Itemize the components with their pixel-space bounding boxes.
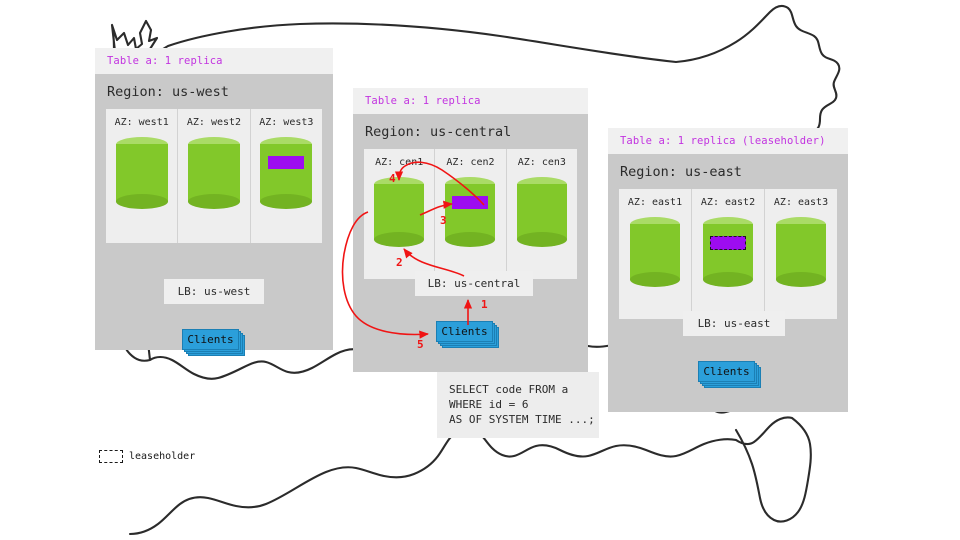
region-header-label: Table a: 1 replica	[353, 88, 588, 114]
clients-label[interactable]: Clients	[182, 329, 239, 350]
az-cell-east2[interactable]: AZ: east2	[692, 189, 765, 319]
cylinder-bottom	[445, 232, 495, 247]
diagram-canvas: Table a: 1 replica Region: us-west AZ: w…	[0, 0, 960, 540]
node-cylinder[interactable]	[260, 137, 312, 209]
cylinder-bottom	[374, 232, 424, 247]
clients-stack[interactable]: Clients	[436, 321, 498, 349]
flow-step-number-3: 3	[440, 214, 447, 227]
az-label: AZ: east1	[619, 197, 691, 208]
node-cylinder-wrap	[178, 137, 249, 209]
replica-block-leaseholder[interactable]	[710, 236, 746, 250]
node-cylinder[interactable]	[445, 177, 495, 247]
az-row: AZ: west1 AZ: west2	[106, 109, 322, 243]
node-cylinder-wrap	[692, 217, 764, 287]
region-panel-us-central: Table a: 1 replica Region: us-central AZ…	[353, 88, 588, 372]
legend: leaseholder	[99, 450, 195, 463]
replica-block[interactable]	[268, 156, 304, 169]
az-row: AZ: east1 AZ: east2	[619, 189, 837, 319]
region-panel-us-west: Table a: 1 replica Region: us-west AZ: w…	[95, 48, 333, 350]
az-cell-west2[interactable]: AZ: west2	[178, 109, 250, 243]
load-balancer-box[interactable]: LB: us-west	[164, 279, 264, 304]
cylinder-bottom	[703, 272, 753, 287]
az-label: AZ: cen1	[364, 157, 434, 168]
flow-step-number-4: 4	[389, 172, 396, 185]
clients-stack[interactable]: Clients	[182, 329, 244, 357]
az-cell-west1[interactable]: AZ: west1	[106, 109, 178, 243]
node-cylinder-wrap	[619, 217, 691, 287]
az-label: AZ: west2	[178, 117, 249, 128]
cylinder-bottom	[188, 194, 240, 209]
region-header-label: Table a: 1 replica (leaseholder)	[608, 128, 848, 154]
az-label: AZ: east3	[765, 197, 837, 208]
node-cylinder[interactable]	[776, 217, 826, 287]
node-cylinder[interactable]	[517, 177, 567, 247]
clients-label[interactable]: Clients	[436, 321, 493, 342]
cylinder-bottom	[260, 194, 312, 209]
az-cell-east1[interactable]: AZ: east1	[619, 189, 692, 319]
node-cylinder[interactable]	[703, 217, 753, 287]
clients-stack[interactable]: Clients	[698, 361, 760, 389]
az-label: AZ: west1	[106, 117, 177, 128]
replica-block[interactable]	[452, 196, 488, 209]
sql-query-box: SELECT code FROM a WHERE id = 6 AS OF SY…	[437, 372, 599, 438]
node-cylinder-wrap	[106, 137, 177, 209]
node-cylinder-wrap	[435, 177, 505, 247]
az-label: AZ: west3	[251, 117, 322, 128]
flow-step-number-5: 5	[417, 338, 424, 351]
az-cell-cen3[interactable]: AZ: cen3	[507, 149, 577, 279]
node-cylinder[interactable]	[374, 177, 424, 247]
az-label: AZ: cen2	[435, 157, 505, 168]
load-balancer-box[interactable]: LB: us-east	[683, 311, 785, 336]
node-cylinder-wrap	[364, 177, 434, 247]
node-cylinder[interactable]	[116, 137, 168, 209]
az-cell-west3[interactable]: AZ: west3	[251, 109, 322, 243]
region-header-label: Table a: 1 replica	[95, 48, 333, 74]
node-cylinder[interactable]	[188, 137, 240, 209]
cylinder-bottom	[116, 194, 168, 209]
flow-step-number-2: 2	[396, 256, 403, 269]
leaseholder-swatch-icon	[99, 450, 123, 463]
region-title-label: Region: us-central	[353, 114, 588, 149]
cylinder-bottom	[630, 272, 680, 287]
region-panel-us-east: Table a: 1 replica (leaseholder) Region:…	[608, 128, 848, 412]
node-cylinder-wrap	[251, 137, 322, 209]
region-title-label: Region: us-west	[95, 74, 333, 109]
load-balancer-box[interactable]: LB: us-central	[415, 271, 533, 296]
az-cell-east3[interactable]: AZ: east3	[765, 189, 837, 319]
node-cylinder[interactable]	[630, 217, 680, 287]
cylinder-bottom	[776, 272, 826, 287]
node-cylinder-wrap	[765, 217, 837, 287]
node-cylinder-wrap	[507, 177, 577, 247]
legend-label: leaseholder	[129, 451, 195, 462]
flow-step-number-1: 1	[481, 298, 488, 311]
clients-label[interactable]: Clients	[698, 361, 755, 382]
cylinder-bottom	[517, 232, 567, 247]
az-label: AZ: cen3	[507, 157, 577, 168]
az-label: AZ: east2	[692, 197, 764, 208]
region-title-label: Region: us-east	[608, 154, 848, 189]
